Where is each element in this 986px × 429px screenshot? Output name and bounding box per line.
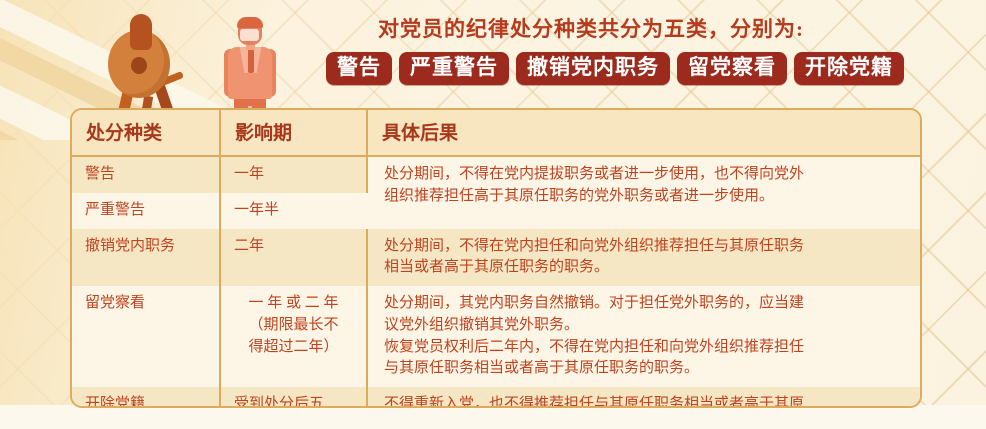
- badge-serious-warning: 严重警告: [399, 52, 509, 85]
- table-header: 处分种类 影响期 具体后果: [72, 110, 920, 156]
- table-row: 开除党籍 受到处分后五 年 不得重新入党，也不得推荐担任与其原任职务相当或者高于…: [72, 387, 920, 408]
- column-header-kind: 处分种类: [72, 110, 220, 156]
- businessman-figure-icon: [218, 18, 282, 122]
- column-header-period: 影响期: [220, 110, 367, 156]
- cell-period: 一 年 或 二 年 （期限最长不 得超过二年）: [220, 286, 367, 387]
- badge-warning: 警告: [326, 52, 392, 85]
- column-header-effect: 具体后果: [367, 110, 920, 156]
- cell-kind: 开除党籍: [72, 387, 220, 408]
- cell-effect: 处分期间，不得在党内担任和向党外组织推荐担任与其原任职务 相当或者高于其原任职务…: [367, 229, 920, 287]
- cell-effect: 不得重新入党，也不得推荐担任与其原任职务相当或者高于其原 任职务的党外职务。: [367, 387, 920, 408]
- table-body: 警告 一年 处分期间，不得在党内提拔职务或者进一步使用，也不得向党外 组织推荐担…: [72, 156, 920, 408]
- illustration-group: [84, 0, 314, 120]
- cell-period: 二年: [220, 229, 367, 287]
- cell-period: 受到处分后五 年: [220, 387, 367, 408]
- cell-kind: 留党察看: [72, 286, 220, 387]
- cell-kind: 撤销党内职务: [72, 229, 220, 287]
- cell-effect: 处分期间，其党内职务自然撤销。对于担任党外职务的，应当建 议党外组织撤销其党外职…: [367, 286, 920, 387]
- table-row: 警告 一年 处分期间，不得在党内提拔职务或者进一步使用，也不得向党外 组织推荐担…: [72, 156, 920, 193]
- table-header-row: 处分种类 影响期 具体后果: [72, 110, 920, 156]
- background-bottom-strip: [0, 405, 986, 429]
- cell-period: 一年: [220, 156, 367, 193]
- table-row: 留党察看 一 年 或 二 年 （期限最长不 得超过二年） 处分期间，其党内职务自…: [72, 286, 920, 387]
- table-row: 撤销党内职务 二年 处分期间，不得在党内担任和向党外组织推荐担任与其原任职务 相…: [72, 229, 920, 287]
- cell-period: 一年半: [220, 193, 367, 229]
- badge-probation: 留党察看: [677, 52, 787, 85]
- infographic-poster: 对党员的纪律处分种类共分为五类，分别为: 警告 严重警告 撤销党内职务 留党察看…: [0, 0, 986, 429]
- discipline-table: 处分种类 影响期 具体后果 警告 一年 处分期间，不得在党内提拔职务或者进一步使…: [70, 108, 922, 408]
- table: 处分种类 影响期 具体后果 警告 一年 处分期间，不得在党内提拔职务或者进一步使…: [72, 110, 920, 408]
- badge-remove-post: 撤销党内职务: [516, 52, 670, 85]
- page-title: 对党员的纪律处分种类共分为五类，分别为:: [378, 13, 804, 43]
- discipline-type-badges: 警告 严重警告 撤销党内职务 留党察看 开除党籍: [326, 52, 904, 85]
- cell-kind: 严重警告: [72, 193, 220, 229]
- badge-expulsion: 开除党籍: [794, 52, 904, 85]
- cell-effect: 处分期间，不得在党内提拔职务或者进一步使用，也不得向党外 组织推荐担任高于其原任…: [367, 156, 920, 229]
- cell-kind: 警告: [72, 156, 220, 193]
